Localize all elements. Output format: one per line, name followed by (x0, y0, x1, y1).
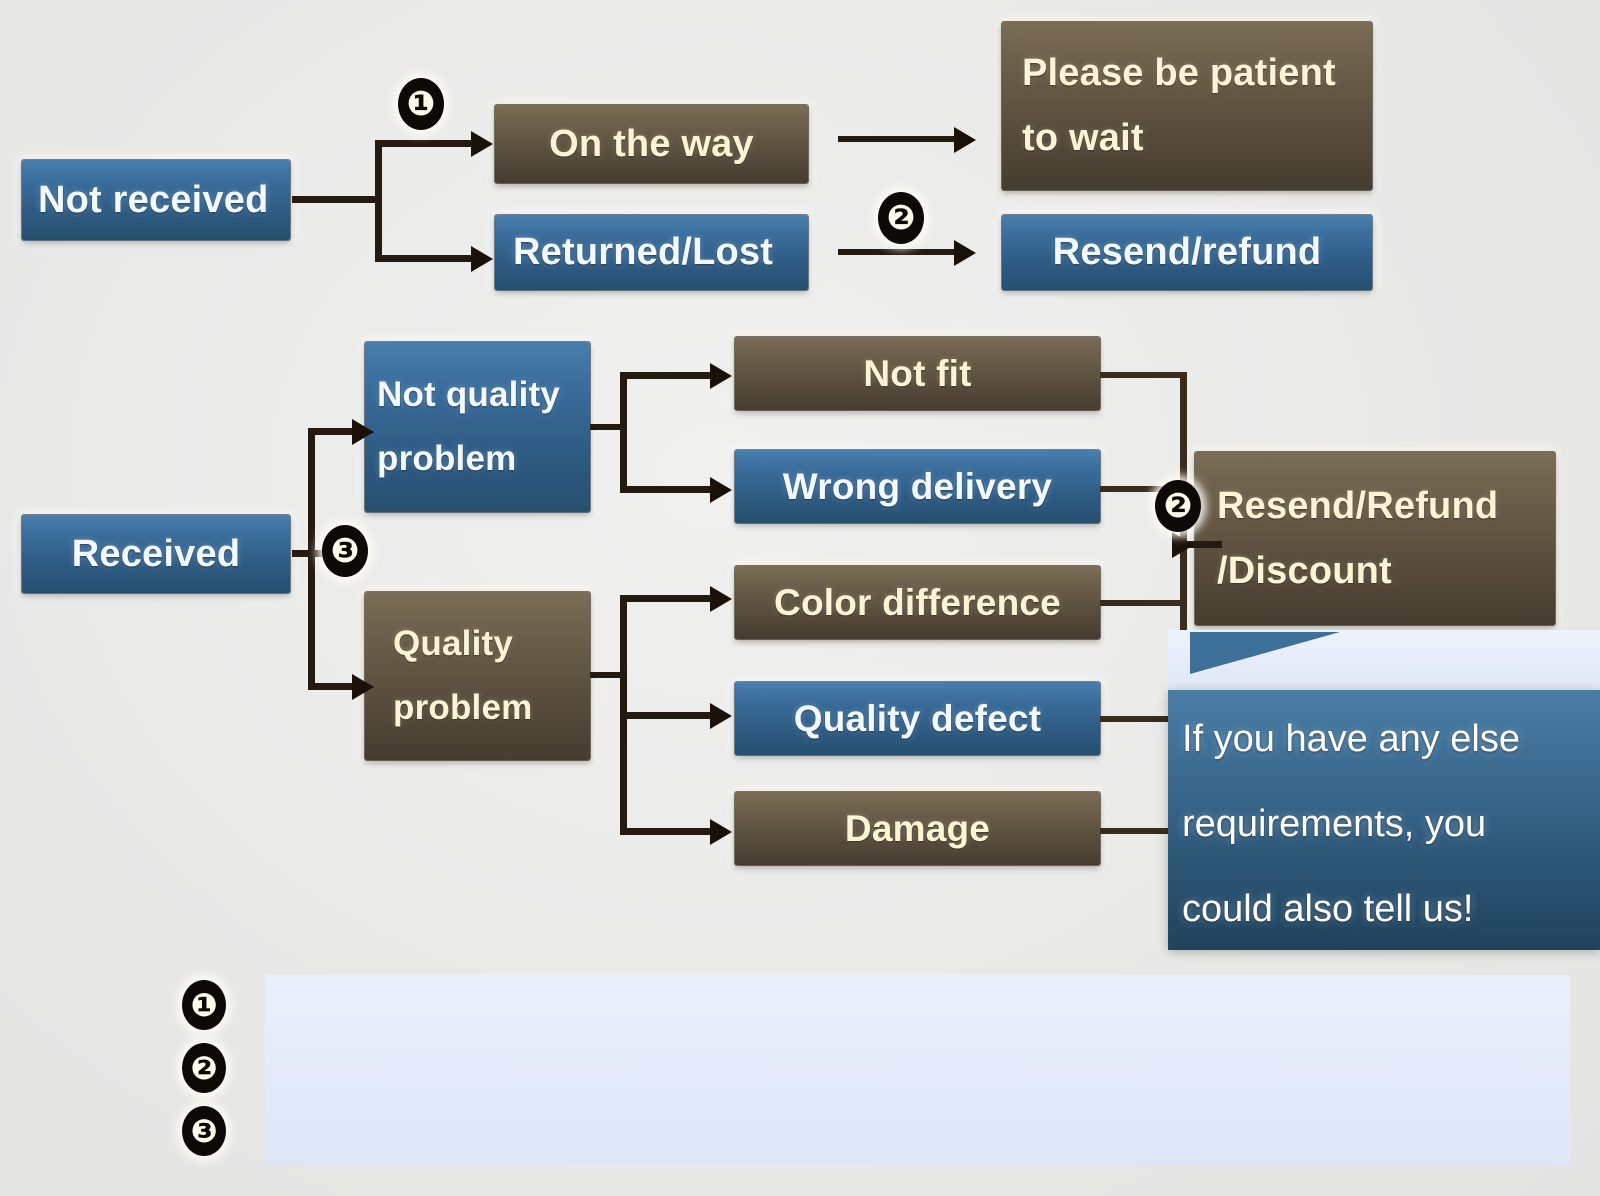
node-damage-label: Damage (845, 808, 990, 850)
node-on-the-way[interactable]: On the way (495, 105, 808, 183)
node-wrong-delivery-label: Wrong delivery (783, 466, 1052, 508)
node-not-received-label: Not received (38, 179, 290, 222)
connector-quality-to-damage (620, 828, 712, 835)
node-quality-problem-line1: Quality (393, 624, 513, 664)
node-resend-refund-discount[interactable]: Resend/Refund /Discount (1195, 452, 1555, 625)
note-line-2: requirements, you (1182, 803, 1594, 846)
node-not-fit-label: Not fit (863, 353, 971, 395)
node-please-be-patient[interactable]: Please be patient to wait (1002, 22, 1372, 190)
connector-color-difference-out (1100, 600, 1185, 606)
legend-badge-2: ❷ (182, 1043, 226, 1093)
connector-not-quality-fork (620, 372, 627, 492)
node-not-quality-problem[interactable]: Not quality problem (365, 342, 590, 512)
arrow-to-quality-defect (710, 703, 732, 729)
connector-received-fork (308, 428, 315, 690)
legend-badge-3: ❸ (182, 1106, 226, 1156)
arrow-to-damage (710, 819, 732, 845)
node-please-be-patient-line2: to wait (1022, 117, 1144, 160)
node-resend-refund[interactable]: Resend/refund (1002, 215, 1372, 290)
node-color-difference-label: Color difference (774, 582, 1061, 624)
arrow-to-not-quality-problem (352, 419, 374, 445)
node-on-the-way-label: On the way (549, 123, 754, 166)
node-quality-problem-line2: problem (393, 688, 532, 728)
connector-not-fit-out (1100, 372, 1185, 378)
node-not-quality-problem-line2: problem (377, 439, 516, 479)
connector-returned-lost-to-resend (838, 249, 956, 255)
node-resend-refund-label: Resend/refund (1053, 231, 1322, 274)
node-damage[interactable]: Damage (735, 792, 1100, 865)
connector-not-quality-to-not-fit (620, 372, 712, 379)
arrow-to-quality-problem (352, 674, 374, 700)
node-not-fit[interactable]: Not fit (735, 337, 1100, 410)
node-received-label: Received (72, 533, 240, 576)
badge-three-check-package: ❸ (322, 525, 368, 577)
node-returned-lost-label: Returned/Lost (513, 231, 773, 274)
note-bubble: If you have any else requirements, you c… (1168, 690, 1600, 950)
node-quality-defect-label: Quality defect (794, 698, 1041, 740)
connector-quality-to-color-difference (620, 595, 712, 602)
note-bubble-tail (1190, 632, 1340, 674)
node-quality-problem[interactable]: Quality problem (365, 592, 590, 760)
note-line-1: If you have any else (1182, 718, 1594, 761)
connector-received-to-quality (308, 683, 356, 690)
arrow-to-on-the-way (471, 131, 493, 157)
node-color-difference[interactable]: Color difference (735, 566, 1100, 639)
badge-two-contact-row1: ❷ (878, 192, 924, 244)
node-quality-defect[interactable]: Quality defect (735, 682, 1100, 755)
badge-two-contact-row2: ❷ (1155, 480, 1201, 532)
connector-not-quality-to-wrong-delivery (620, 486, 712, 493)
node-wrong-delivery[interactable]: Wrong delivery (735, 450, 1100, 523)
connector-quality-to-quality-defect (620, 712, 712, 719)
arrow-to-not-fit (710, 363, 732, 389)
badge-one-tracking: ❶ (398, 78, 444, 130)
arrow-to-color-difference (710, 586, 732, 612)
node-not-quality-problem-line1: Not quality (377, 375, 560, 415)
connector-not-received-to-on-the-way (375, 140, 473, 147)
node-received[interactable]: Received (22, 515, 290, 593)
connector-on-the-way-to-wait (838, 136, 956, 142)
arrow-to-resend-refund-discount (1172, 532, 1194, 558)
node-returned-lost[interactable]: Returned/Lost (495, 215, 808, 290)
arrow-to-wrong-delivery (710, 477, 732, 503)
legend-badge-1: ❶ (182, 980, 226, 1030)
node-resend-refund-discount-line2: /Discount (1217, 550, 1392, 593)
node-not-received[interactable]: Not received (22, 160, 290, 240)
node-please-be-patient-line1: Please be patient (1022, 52, 1336, 95)
arrow-on-the-way-to-wait (954, 127, 976, 153)
connector-not-received-fork (375, 140, 382, 262)
flowchart-canvas: Not received ❶ On the way Returned/Lost … (0, 0, 1600, 1196)
arrow-returned-lost-to-resend (954, 240, 976, 266)
connector-not-received-stem (292, 196, 382, 203)
connector-received-to-not-quality (308, 428, 356, 435)
legend-panel (265, 975, 1570, 1165)
arrow-to-returned-lost (471, 246, 493, 272)
connector-not-received-to-returned-lost (375, 255, 473, 262)
node-resend-refund-discount-line1: Resend/Refund (1217, 485, 1498, 528)
note-line-3: could also tell us! (1182, 888, 1594, 931)
